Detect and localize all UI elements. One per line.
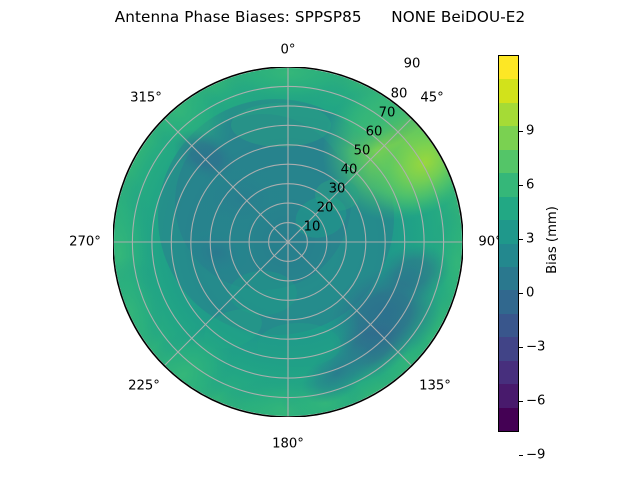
angle-tick-45: 45° <box>420 91 443 106</box>
colorbar-ticklabel-0: 0 <box>526 286 534 301</box>
colorbar-band-9 <box>499 267 518 290</box>
colorbar-ticklabel-3: 3 <box>526 232 534 247</box>
radial-tick-40: 40 <box>341 163 358 178</box>
angle-tick-315: 315° <box>130 91 162 106</box>
colorbar-ticklabel-m6: −6 <box>526 393 545 408</box>
colorbar-band-12 <box>499 337 518 360</box>
radial-tick-80: 80 <box>391 87 408 102</box>
colorbar-ticklabel-6: 6 <box>526 178 534 193</box>
page-title: Antenna Phase Biases: SPPSP85 NONE BeiDO… <box>0 8 640 26</box>
colorbar-tick-6 <box>519 185 523 186</box>
colorbar-band-11 <box>499 314 518 337</box>
angle-tick-135: 135° <box>419 379 451 394</box>
radial-tick-10: 10 <box>304 220 321 235</box>
angle-tick-270: 270° <box>69 235 101 250</box>
colorbar-tick-3 <box>519 239 523 240</box>
colorbar-tick-m6 <box>519 401 523 402</box>
colorbar-band-13 <box>499 361 518 384</box>
colorbar-tick-9 <box>519 131 523 132</box>
figure-canvas: Antenna Phase Biases: SPPSP85 NONE BeiDO… <box>0 0 640 480</box>
colorbar-band-4 <box>499 150 518 173</box>
colorbar-gradient <box>498 55 519 432</box>
radial-tick-60: 60 <box>366 125 383 140</box>
colorbar-band-3 <box>499 126 518 149</box>
colorbar-tick-m9 <box>519 455 523 456</box>
angle-tick-180: 180° <box>272 437 304 452</box>
colorbar-axis-label: Bias (mm) <box>545 206 560 274</box>
colorbar-ticklabel-9: 9 <box>526 124 534 139</box>
colorbar-band-15 <box>499 408 518 431</box>
colorbar-tick-0 <box>519 293 523 294</box>
colorbar-band-14 <box>499 384 518 407</box>
radial-tick-50: 50 <box>354 144 371 159</box>
radial-tick-20: 20 <box>317 201 334 216</box>
colorbar-band-0 <box>499 56 518 79</box>
polar-plot[interactable]: 0° 45° 90° 135° 180° 225° 270° 315° 10 2… <box>113 67 463 417</box>
colorbar-band-2 <box>499 103 518 126</box>
colorbar-band-7 <box>499 220 518 243</box>
polar-gridlines <box>113 67 463 417</box>
angle-tick-225: 225° <box>128 379 160 394</box>
radial-tick-90: 90 <box>404 57 421 72</box>
colorbar[interactable]: 9 6 3 0 −3 −6 −9 <box>498 55 519 432</box>
colorbar-band-5 <box>499 173 518 196</box>
colorbar-tick-m3 <box>519 347 523 348</box>
colorbar-ticklabel-m9: −9 <box>526 447 545 462</box>
colorbar-ticklabel-m3: −3 <box>526 339 545 354</box>
angle-tick-0: 0° <box>281 43 296 58</box>
colorbar-band-8 <box>499 244 518 267</box>
colorbar-band-10 <box>499 290 518 313</box>
radial-tick-70: 70 <box>379 106 396 121</box>
colorbar-band-6 <box>499 197 518 220</box>
colorbar-band-1 <box>499 79 518 102</box>
polar-contour-surface <box>113 67 463 417</box>
radial-tick-30: 30 <box>329 182 346 197</box>
